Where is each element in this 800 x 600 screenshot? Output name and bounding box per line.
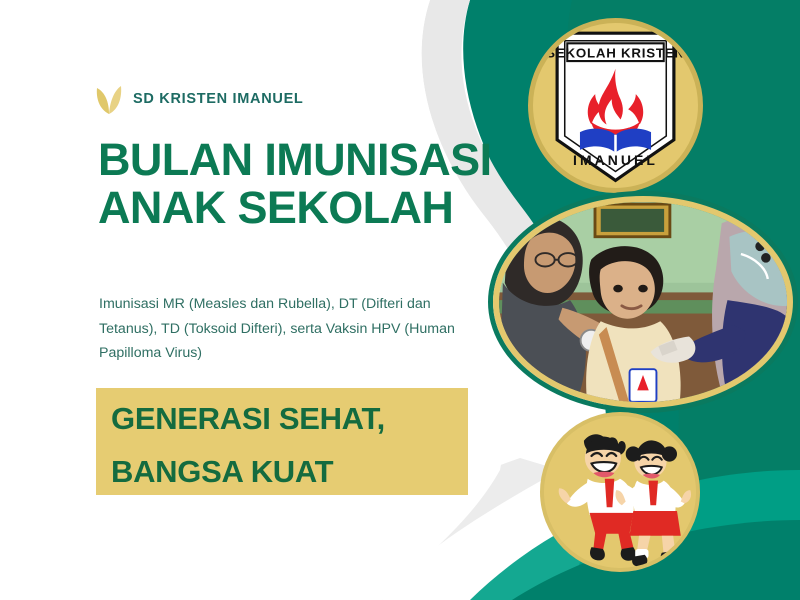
page-title: BULAN IMUNISASI ANAK SEKOLAH: [98, 136, 528, 232]
crest-bottom-text: IMANUEL: [573, 152, 658, 168]
description-text: Imunisasi MR (Measles dan Rubella), DT (…: [99, 292, 474, 365]
poster-canvas: SD KRISTEN IMANUEL BULAN IMUNISASI ANAK …: [0, 0, 800, 600]
happy-students-svg: [544, 416, 696, 568]
brand-name: SD KRISTEN IMANUEL: [133, 91, 304, 107]
vaccination-photo: [493, 196, 793, 408]
tagline-line-1: GENERASI SEHAT,: [111, 401, 385, 436]
happy-students-illustration: [540, 412, 700, 572]
vaccination-photo-svg: [499, 202, 787, 402]
crest-top-text: SEKOLAH KRISTEN: [546, 45, 685, 60]
leaf-sprout-icon: [96, 84, 122, 114]
brand-lockup: SD KRISTEN IMANUEL: [96, 84, 304, 114]
school-crest-icon: SEKOLAH KRISTEN IMANUEL: [528, 18, 703, 193]
headline-line-2: ANAK SEKOLAH: [98, 184, 528, 232]
crest-shield-svg: SEKOLAH KRISTEN IMANUEL: [533, 23, 698, 188]
tagline: GENERASI SEHAT, BANGSA KUAT: [111, 392, 511, 499]
headline-line-1: BULAN IMUNISASI: [98, 134, 492, 185]
tagline-line-2: BANGSA KUAT: [111, 445, 511, 498]
